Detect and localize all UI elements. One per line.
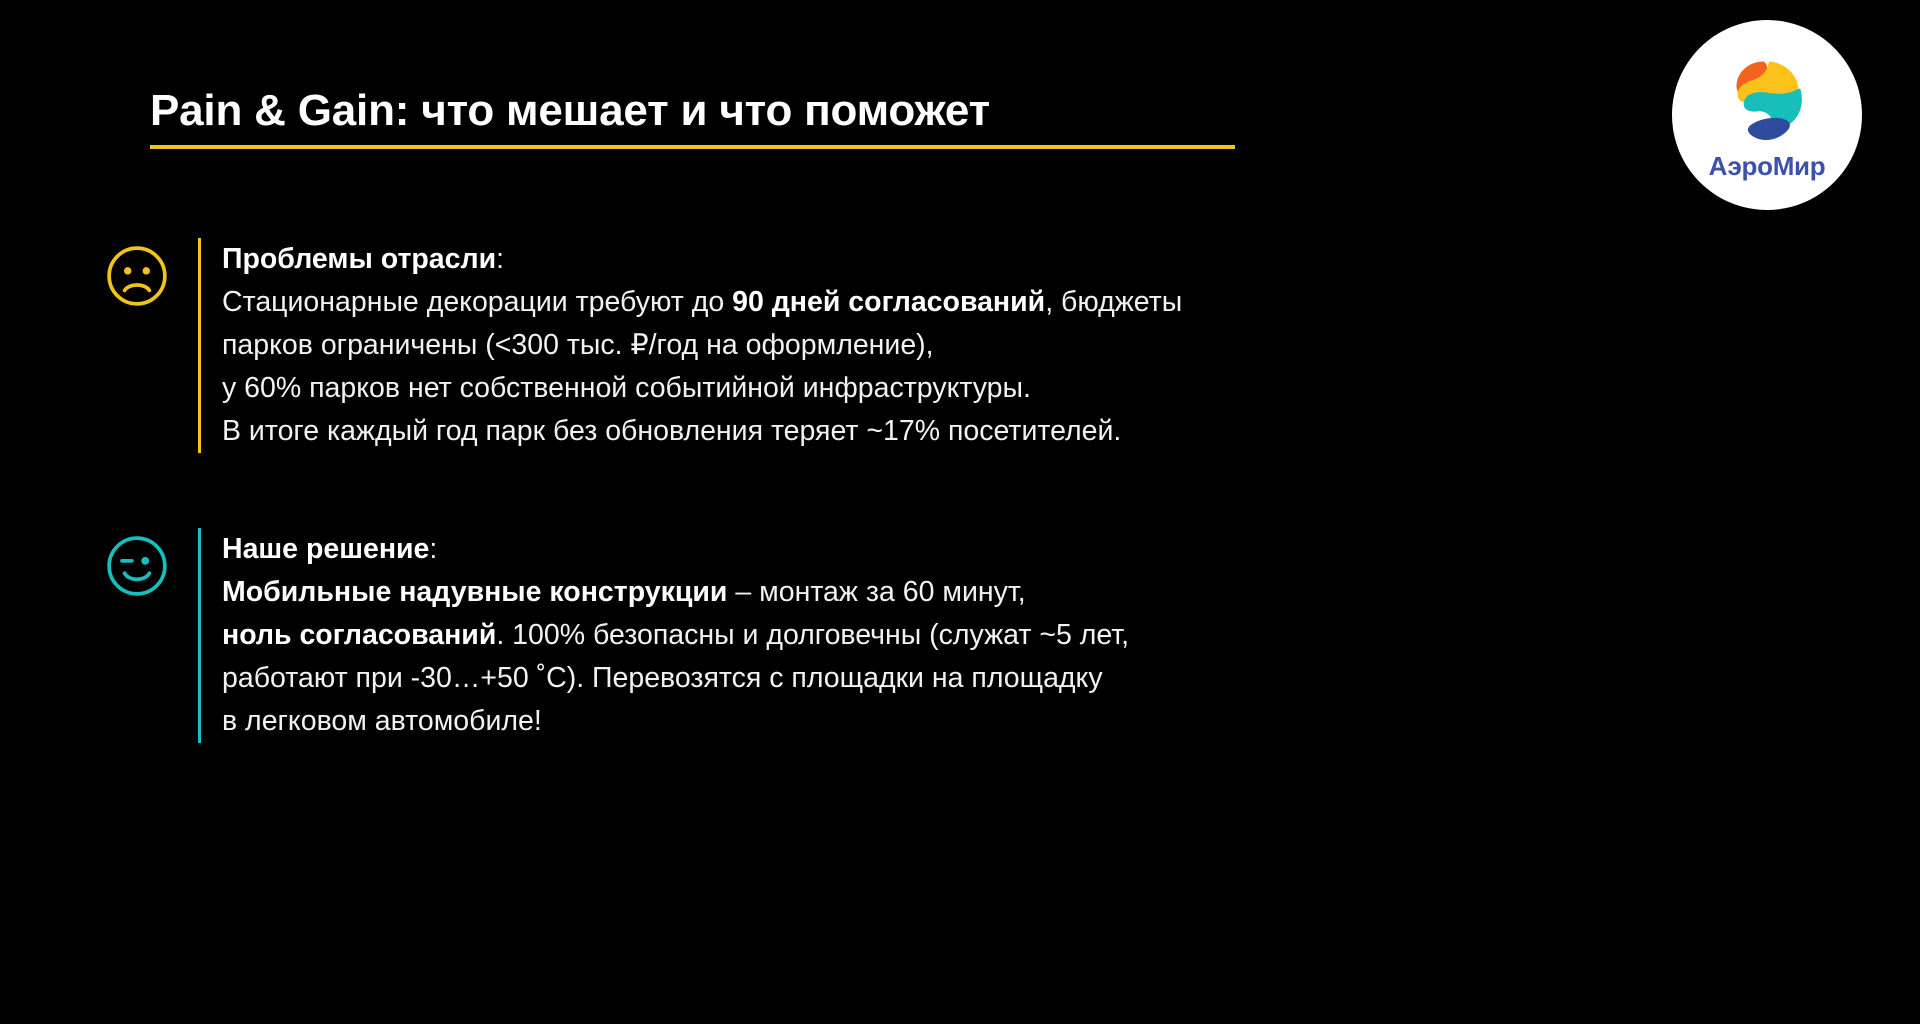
pain-line-1-part-1: Стационарные декорации требуют до (222, 286, 732, 318)
pain-block: Проблемы отрасли: Стационарные декорации… (104, 238, 1182, 453)
gain-line-2-part-2: . 100% безопасны и долговечны (служат ~5… (496, 619, 1129, 651)
gain-line-1-part-1: Мобильные надувные конструкции (222, 576, 727, 608)
gain-line-2-part-1: ноль согласований (222, 619, 496, 651)
gain-heading-line: Наше решение: (222, 528, 1129, 571)
pain-line-2: парков ограничены (<300 тыс. ₽/год на оф… (222, 324, 1182, 367)
gain-line-3: работают при -30…+50 ˚С). Перевозятся с … (222, 657, 1129, 700)
sad-face-icon (104, 243, 170, 309)
pain-text: Проблемы отрасли: Стационарные декорации… (222, 238, 1182, 453)
pain-line-1-part-3: , бюджеты (1045, 286, 1182, 318)
gain-block: Наше решение: Мобильные надувные констру… (104, 528, 1129, 743)
pain-line-1: Стационарные декорации требуют до 90 дне… (222, 281, 1182, 324)
gain-line-2: ноль согласований. 100% безопасны и долг… (222, 614, 1129, 657)
gain-heading: Наше решение (222, 533, 429, 565)
pain-heading: Проблемы отрасли (222, 243, 496, 275)
gain-accent-bar (198, 528, 201, 743)
gain-text: Наше решение: Мобильные надувные констру… (222, 528, 1129, 743)
globe-icon (1715, 48, 1819, 152)
gain-line-1-part-2: – монтаж за 60 минут, (727, 576, 1025, 608)
gain-heading-suffix: : (429, 533, 437, 565)
title-block: Pain & Gain: что мешает и что поможет (150, 88, 1250, 149)
winking-smiley-icon (104, 533, 170, 599)
pain-line-1-part-2: 90 дней согласований (732, 286, 1045, 318)
title-underline-rule (150, 145, 1235, 149)
pain-heading-line: Проблемы отрасли: (222, 238, 1182, 281)
aeromir-logo: АэроМир (1672, 20, 1862, 210)
slide-root: Pain & Gain: что мешает и что поможет Аэ… (0, 0, 1920, 1024)
pain-line-4: В итоге каждый год парк без обновления т… (222, 410, 1182, 453)
pain-line-3: у 60% парков нет собственной событийной … (222, 367, 1182, 410)
pain-heading-suffix: : (496, 243, 504, 275)
gain-line-4: в легковом автомобиле! (222, 700, 1129, 743)
page-title: Pain & Gain: что мешает и что поможет (150, 88, 1250, 134)
pain-accent-bar (198, 238, 201, 453)
gain-line-1: Мобильные надувные конструкции – монтаж … (222, 571, 1129, 614)
logo-wordmark: АэроМир (1709, 153, 1826, 179)
